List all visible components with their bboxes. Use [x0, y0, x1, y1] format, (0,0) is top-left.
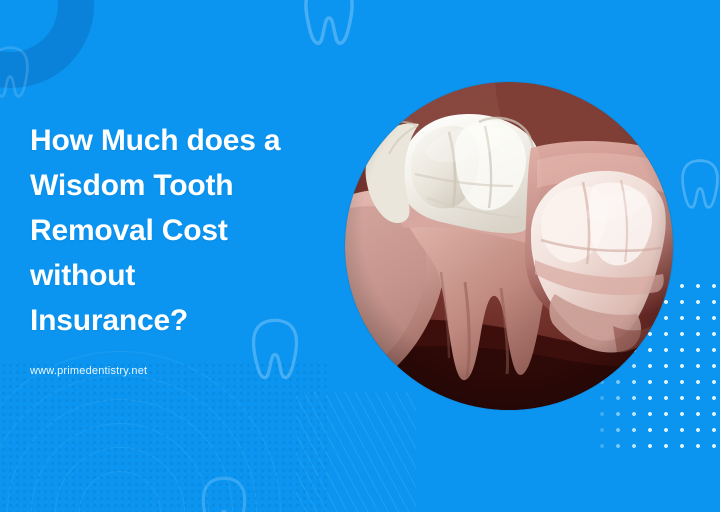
tooth-watermark-right [678, 157, 720, 211]
wisdom-tooth-illustration [345, 82, 673, 410]
dot-field-icon [0, 362, 330, 512]
corner-ring-icon [0, 0, 94, 88]
tooth-watermark-left [0, 44, 32, 100]
tooth-watermark-top [300, 0, 358, 48]
dental-blog-banner: How Much does a Wisdom Tooth Removal Cos… [0, 0, 720, 512]
page-title: How Much does a Wisdom Tooth Removal Cos… [30, 118, 330, 343]
tooth-watermark-bottom [198, 474, 250, 512]
site-url-label: www.primedentistry.net [30, 365, 330, 377]
tooth-illustration-graphic [345, 82, 673, 410]
diagonal-hatch-icon [296, 392, 416, 512]
concentric-arcs-icon [0, 362, 270, 512]
headline-block: How Much does a Wisdom Tooth Removal Cos… [30, 118, 330, 377]
